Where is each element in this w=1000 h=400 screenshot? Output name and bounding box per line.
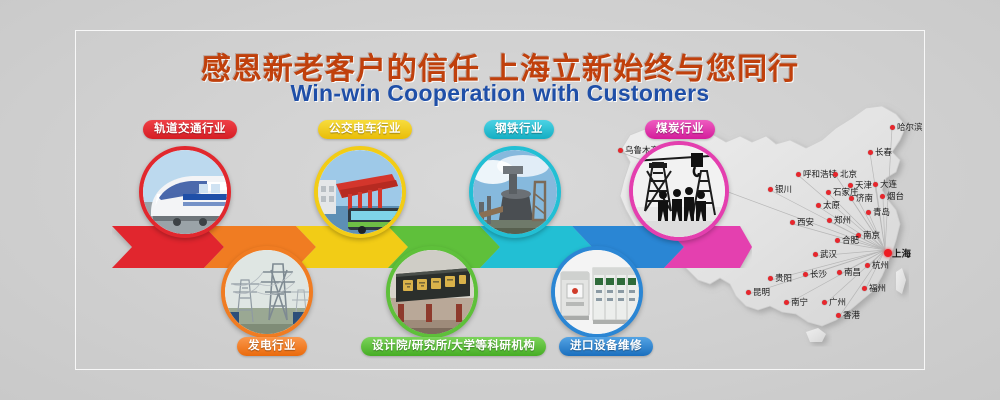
badge-coal-label: 煤炭行业 [656,123,704,135]
city-dot [803,272,808,277]
city-dot [862,286,867,291]
blast-furnace-icon [473,150,557,234]
industry-circle-power[interactable] [221,246,313,338]
city-dot [813,252,818,257]
badge-rail[interactable]: 轨道交通行业 [143,120,237,139]
city-label: 广州 [829,296,846,308]
city-dot [746,290,751,295]
city-dot [827,218,832,223]
city-dot [768,276,773,281]
badge-research-label: 设计院/研究所/大学等科研机构 [372,340,535,352]
city-label: 昆明 [753,286,770,298]
city-dot [866,210,871,215]
industry-circle-bus[interactable] [314,146,406,238]
switchgear-icon [555,250,639,334]
city-label: 长春 [875,146,892,158]
city-label: 银川 [775,183,792,195]
city-label: 石家庄 [833,186,859,198]
mining-derrick-icon [633,145,725,237]
badge-power[interactable]: 发电行业 [237,337,307,356]
city-label: 香港 [843,309,860,321]
city-dot [822,300,827,305]
city-label: 南京 [863,229,880,241]
city-dot [835,238,840,243]
city-dot [816,203,821,208]
city-label: 郑州 [834,214,851,226]
industry-circle-steel[interactable] [469,146,561,238]
power-pylon-icon [225,250,309,334]
city-label: 南昌 [844,266,861,278]
university-sign-icon [390,250,474,334]
city-dot [768,187,773,192]
badge-steel[interactable]: 钢铁行业 [484,120,554,139]
city-label: 武汉 [820,248,837,260]
city-label: 青岛 [873,206,890,218]
badge-import[interactable]: 进口设备维修 [559,337,653,356]
city-dot [790,220,795,225]
city-label: 呼和浩特 [803,168,837,180]
badge-bus[interactable]: 公交电车行业 [318,120,412,139]
badge-steel-label: 钢铁行业 [495,123,543,135]
page-title-en: Win-win Cooperation with Customers [0,80,1000,107]
city-label: 长沙 [810,268,827,280]
city-label: 杭州 [872,259,889,271]
badge-rail-label: 轨道交通行业 [154,123,226,135]
city-dot [836,313,841,318]
city-dot [865,263,870,268]
city-dot [837,270,842,275]
bus-icon [318,150,402,234]
badge-power-label: 发电行业 [248,340,296,352]
promo-banner: 哈尔滨长春乌鲁木齐呼和浩特北京天津大连银川石家庄济南烟台太原青岛西安郑州南京合肥… [0,0,1000,400]
industry-circle-research[interactable] [386,246,478,338]
city-label: 南宁 [791,296,808,308]
city-dot-hub [884,249,892,257]
city-label: 太原 [823,199,840,211]
city-dot [784,300,789,305]
city-dot [618,148,623,153]
city-label: 济南 [856,192,873,204]
badge-bus-label: 公交电车行业 [329,123,401,135]
city-label: 烟台 [887,190,904,202]
industry-circle-import[interactable] [551,246,643,338]
badge-research[interactable]: 设计院/研究所/大学等科研机构 [361,337,546,356]
city-dot [880,194,885,199]
city-label: 大连 [880,178,897,190]
industry-circle-rail[interactable] [139,146,231,238]
city-label: 上海 [892,246,911,260]
city-dot [868,150,873,155]
city-dot [796,172,801,177]
badge-coal[interactable]: 煤炭行业 [645,120,715,139]
train-icon [143,150,227,234]
city-label: 西安 [797,216,814,228]
city-label: 合肥 [842,234,859,246]
city-label: 福州 [869,282,886,294]
industry-circle-coal[interactable] [629,141,729,241]
city-dot [826,190,831,195]
city-label: 哈尔滨 [897,121,923,133]
city-dot [873,182,878,187]
city-dot [849,196,854,201]
badge-import-label: 进口设备维修 [570,340,642,352]
city-dot [833,172,838,177]
city-label: 贵阳 [775,272,792,284]
city-dot [890,125,895,130]
